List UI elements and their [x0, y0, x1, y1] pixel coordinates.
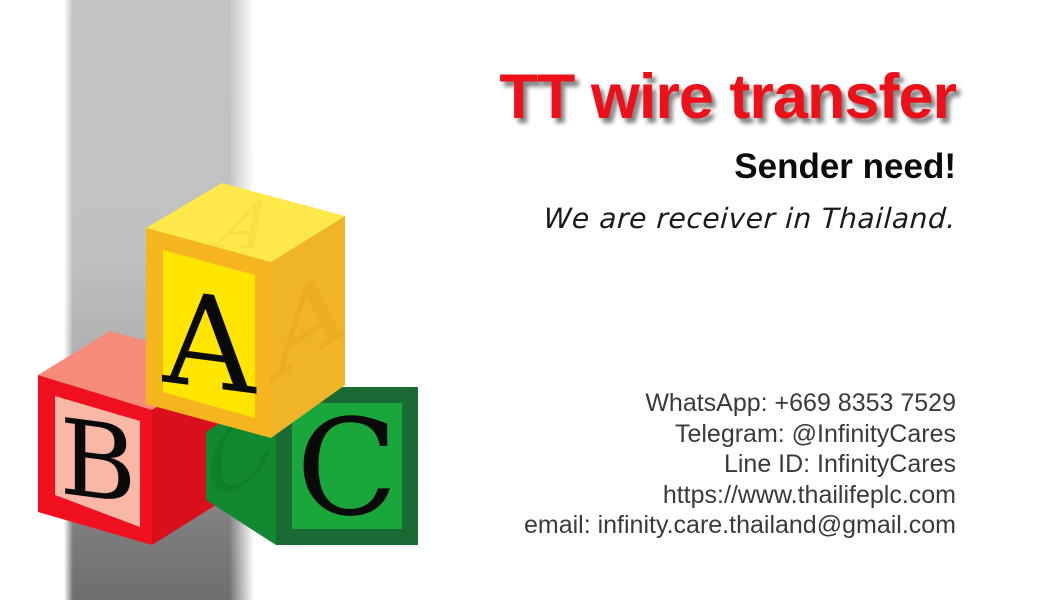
block-c-letter: C: [296, 392, 398, 546]
contact-line-whatsapp[interactable]: WhatsApp: +669 8353 7529: [420, 388, 956, 419]
contact-block: WhatsApp: +669 8353 7529 Telegram: @Infi…: [420, 388, 956, 541]
contact-line-website[interactable]: https://www.thailifeplc.com: [420, 480, 956, 511]
block-a-letter: A: [162, 264, 258, 425]
tagline: We are receiver in Thailand.: [359, 203, 957, 235]
block-b-letter: B: [59, 395, 136, 528]
page-title: TT wire transfer: [240, 66, 956, 129]
contact-line-lineid[interactable]: Line ID: InfinityCares: [420, 449, 956, 480]
block-a: A A A: [146, 183, 348, 438]
contact-line-email[interactable]: email: infinity.care.thailand@gmail.com: [420, 510, 956, 541]
flyer-canvas: B B C: [0, 0, 1063, 600]
contact-line-telegram[interactable]: Telegram: @InfinityCares: [420, 419, 956, 450]
subtitle: Sender need!: [340, 148, 956, 187]
